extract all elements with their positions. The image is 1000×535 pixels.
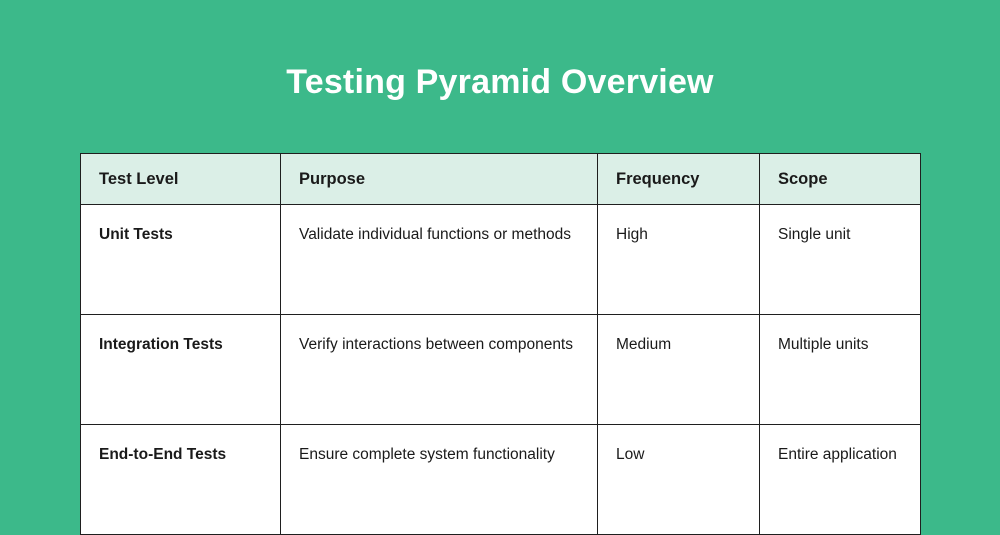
cell-frequency: High (598, 205, 760, 315)
cell-purpose: Ensure complete system functionality (281, 425, 598, 535)
column-header-purpose: Purpose (281, 154, 598, 205)
cell-scope: Entire application (760, 425, 921, 535)
cell-test-level: End-to-End Tests (81, 425, 281, 535)
table-row: Integration Tests Verify interactions be… (81, 315, 921, 425)
cell-frequency: Medium (598, 315, 760, 425)
column-header-test-level: Test Level (81, 154, 281, 205)
page-title: Testing Pyramid Overview (0, 60, 1000, 104)
cell-purpose: Validate individual functions or methods (281, 205, 598, 315)
cell-scope: Single unit (760, 205, 921, 315)
table-body: Unit Tests Validate individual functions… (81, 205, 921, 535)
cell-frequency: Low (598, 425, 760, 535)
cell-scope: Multiple units (760, 315, 921, 425)
table-header-row: Test Level Purpose Frequency Scope (81, 154, 921, 205)
testing-pyramid-table: Test Level Purpose Frequency Scope Unit … (80, 153, 921, 535)
page-root: Testing Pyramid Overview Test Level Purp… (0, 0, 1000, 499)
column-header-frequency: Frequency (598, 154, 760, 205)
table-row: Unit Tests Validate individual functions… (81, 205, 921, 315)
cell-test-level: Integration Tests (81, 315, 281, 425)
table-header: Test Level Purpose Frequency Scope (81, 154, 921, 205)
cell-purpose: Verify interactions between components (281, 315, 598, 425)
cell-test-level: Unit Tests (81, 205, 281, 315)
testing-pyramid-table-wrapper: Test Level Purpose Frequency Scope Unit … (80, 153, 920, 535)
table-row: End-to-End Tests Ensure complete system … (81, 425, 921, 535)
column-header-scope: Scope (760, 154, 921, 205)
